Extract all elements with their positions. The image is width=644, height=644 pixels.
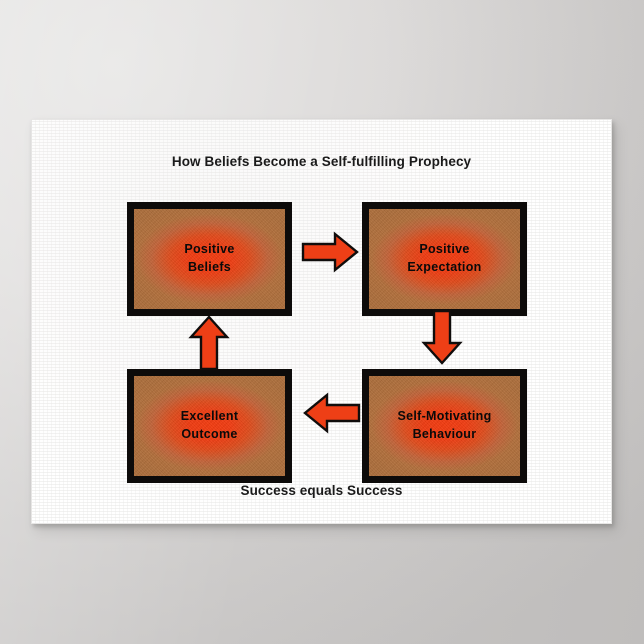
arrow-left-icon bbox=[303, 392, 361, 434]
page-title: How Beliefs Become a Self-fulfilling Pro… bbox=[31, 154, 612, 169]
node-label-positive-beliefs: Positive Beliefs bbox=[184, 241, 234, 277]
arrow-down-icon bbox=[421, 309, 463, 365]
node-positive-expectation: Positive Expectation bbox=[362, 202, 527, 316]
page-footer: Success equals Success bbox=[31, 483, 612, 498]
poster-sheet: How Beliefs Become a Self-fulfilling Pro… bbox=[31, 119, 612, 524]
node-label-self-motivating-behaviour: Self-Motivating Behaviour bbox=[397, 408, 491, 444]
arrow-right-icon bbox=[301, 231, 359, 273]
node-positive-beliefs: Positive Beliefs bbox=[127, 202, 292, 316]
node-self-motivating-behaviour: Self-Motivating Behaviour bbox=[362, 369, 527, 483]
node-label-positive-expectation: Positive Expectation bbox=[407, 241, 481, 277]
arrow-up-icon bbox=[188, 315, 230, 371]
node-excellent-outcome: Excellent Outcome bbox=[127, 369, 292, 483]
node-label-excellent-outcome: Excellent Outcome bbox=[181, 408, 239, 444]
